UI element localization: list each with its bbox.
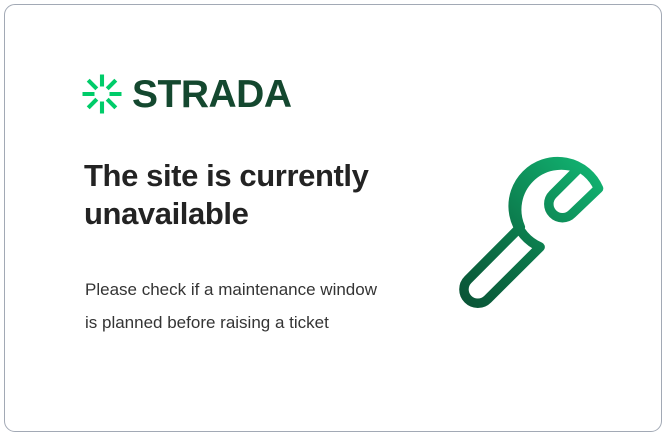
- brand-wordmark: STRADA: [132, 75, 292, 114]
- wrench-icon: [457, 155, 617, 315]
- error-page: STRADA The site is currently unavailable…: [0, 0, 666, 436]
- brand-lockup: STRADA: [81, 73, 292, 115]
- page-title: The site is currently unavailable: [84, 157, 414, 233]
- strada-asterisk-icon: [81, 73, 123, 115]
- page-description: Please check if a maintenance window is …: [85, 273, 385, 339]
- status-card: STRADA The site is currently unavailable…: [4, 4, 662, 432]
